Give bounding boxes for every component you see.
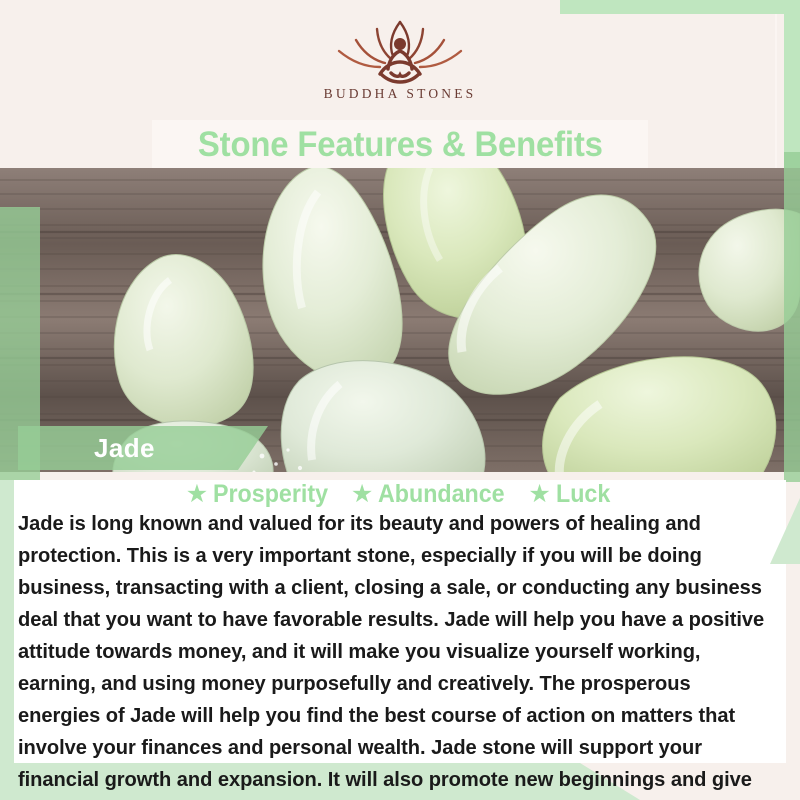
benefit-label: Abundance bbox=[378, 482, 505, 507]
description-paragraph: Jade is long known and valued for its be… bbox=[18, 508, 773, 800]
benefit-item: ★ Abundance bbox=[351, 482, 515, 507]
lotus-meditation-icon bbox=[325, 16, 475, 88]
brand-header: BUDDHA STONES bbox=[0, 0, 800, 118]
infographic-card: BUDDHA STONES Stone Features & Benefits bbox=[0, 0, 800, 800]
benefit-label: Prosperity bbox=[213, 482, 328, 507]
stone-name-label: Jade bbox=[94, 433, 155, 464]
star-icon: ★ bbox=[528, 482, 550, 507]
benefit-item: ★ Luck bbox=[528, 482, 614, 507]
star-icon: ★ bbox=[186, 482, 208, 507]
decorative-bar-right bbox=[784, 152, 800, 482]
title-band: Stone Features & Benefits bbox=[152, 120, 648, 168]
brand-logo: BUDDHA STONES bbox=[324, 16, 477, 102]
decorative-bar-left-lower bbox=[0, 480, 14, 770]
benefit-label: Luck bbox=[556, 482, 610, 507]
page-title: Stone Features & Benefits bbox=[198, 127, 603, 162]
benefit-item: ★ Prosperity bbox=[186, 482, 337, 507]
stone-name-banner: Jade bbox=[18, 426, 268, 470]
star-icon: ★ bbox=[351, 482, 373, 507]
benefits-row: ★ Prosperity ★ Abundance ★ Luck bbox=[0, 478, 800, 510]
brand-name: BUDDHA STONES bbox=[324, 86, 477, 102]
